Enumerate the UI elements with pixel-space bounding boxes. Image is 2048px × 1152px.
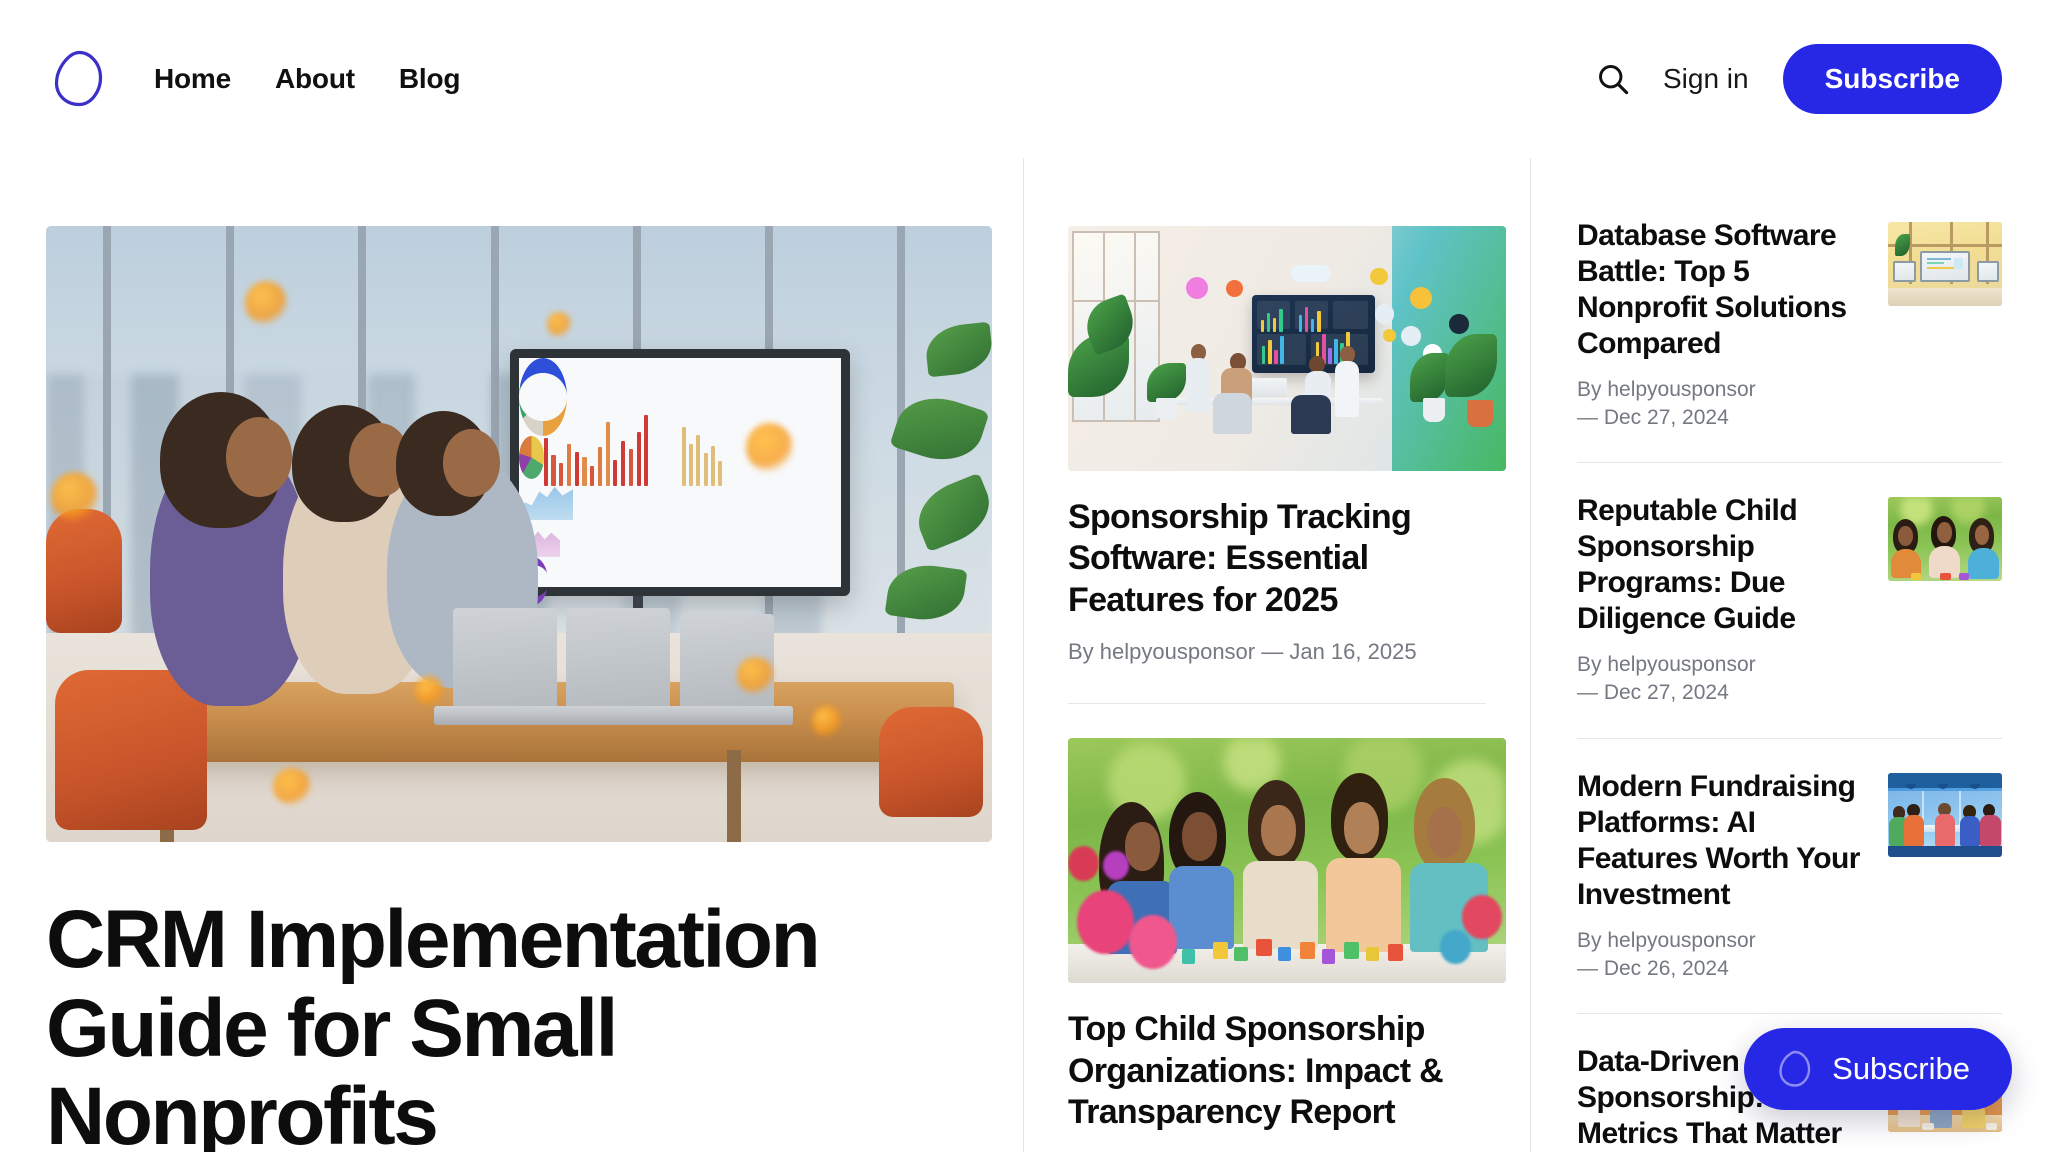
- site-header: Home About Blog Sign in Subscribe: [0, 0, 2048, 158]
- featured-column: CRM Implementation Guide for Small Nonpr…: [0, 158, 1023, 1152]
- right-divider: [1577, 462, 2002, 463]
- floating-subscribe-label: Subscribe: [1832, 1051, 1970, 1087]
- right-post-item[interactable]: Modern Fundraising Platforms: AI Feature…: [1577, 769, 2002, 983]
- right-post-title[interactable]: Database Software Battle: Top 5 Nonprofi…: [1577, 218, 1870, 362]
- nav-link-about[interactable]: About: [275, 63, 355, 95]
- content-grid: CRM Implementation Guide for Small Nonpr…: [0, 158, 2048, 1152]
- middle-post-image[interactable]: [1068, 226, 1506, 471]
- right-post-thumbnail[interactable]: [1888, 222, 2002, 306]
- middle-post-title[interactable]: Sponsorship Tracking Software: Essential…: [1068, 497, 1486, 621]
- right-post-thumbnail[interactable]: [1888, 773, 2002, 857]
- right-post-meta: By helpyousponsor — Dec 26, 2024: [1577, 927, 1870, 983]
- nav-link-blog[interactable]: Blog: [399, 63, 460, 95]
- floating-blob-logo-icon: [1774, 1048, 1816, 1090]
- nav-link-home[interactable]: Home: [154, 63, 231, 95]
- right-post-date: — Dec 27, 2024: [1577, 681, 1729, 704]
- right-post-meta: By helpyousponsor — Dec 27, 2024: [1577, 651, 1870, 707]
- right-post-title[interactable]: Modern Fundraising Platforms: AI Feature…: [1577, 769, 1870, 913]
- header-actions: Sign in Subscribe: [1591, 44, 2002, 114]
- blog-homepage: Home About Blog Sign in Subscribe: [0, 0, 2048, 1152]
- featured-post-image[interactable]: [46, 226, 992, 842]
- subscribe-button[interactable]: Subscribe: [1783, 44, 2002, 114]
- right-post-date: — Dec 27, 2024: [1577, 406, 1729, 429]
- right-divider: [1577, 738, 2002, 739]
- right-post-title[interactable]: Reputable Child Sponsorship Programs: Du…: [1577, 493, 1870, 637]
- sign-in-link[interactable]: Sign in: [1663, 63, 1749, 95]
- featured-post-title[interactable]: CRM Implementation Guide for Small Nonpr…: [46, 896, 965, 1152]
- floating-subscribe-button[interactable]: Subscribe: [1744, 1028, 2012, 1110]
- right-post-date: — Dec 26, 2024: [1577, 957, 1729, 980]
- right-post-author: By helpyousponsor: [1577, 929, 1756, 952]
- middle-post-card[interactable]: Sponsorship Tracking Software: Essential…: [1068, 226, 1486, 665]
- brand-logo-icon[interactable]: [46, 46, 112, 112]
- featured-post-card[interactable]: CRM Implementation Guide for Small Nonpr…: [46, 226, 965, 1152]
- search-icon[interactable]: [1591, 57, 1635, 101]
- right-divider: [1577, 1013, 2002, 1014]
- middle-post-meta: By helpyousponsor — Jan 16, 2025: [1068, 639, 1486, 665]
- right-post-item[interactable]: Reputable Child Sponsorship Programs: Du…: [1577, 493, 2002, 707]
- right-post-meta: By helpyousponsor — Dec 27, 2024: [1577, 376, 1870, 432]
- right-post-author: By helpyousponsor: [1577, 653, 1756, 676]
- middle-column: Sponsorship Tracking Software: Essential…: [1023, 158, 1530, 1152]
- middle-post-title[interactable]: Top Child Sponsorship Organizations: Imp…: [1068, 1009, 1486, 1133]
- right-post-author: By helpyousponsor: [1577, 378, 1756, 401]
- right-post-thumbnail[interactable]: [1888, 497, 2002, 581]
- middle-post-card[interactable]: Top Child Sponsorship Organizations: Imp…: [1068, 738, 1486, 1152]
- main-nav: Home About Blog: [154, 63, 460, 95]
- right-column: Database Software Battle: Top 5 Nonprofi…: [1530, 158, 2048, 1152]
- middle-divider: [1068, 703, 1486, 704]
- right-post-item[interactable]: Database Software Battle: Top 5 Nonprofi…: [1577, 218, 2002, 432]
- middle-post-image[interactable]: [1068, 738, 1506, 983]
